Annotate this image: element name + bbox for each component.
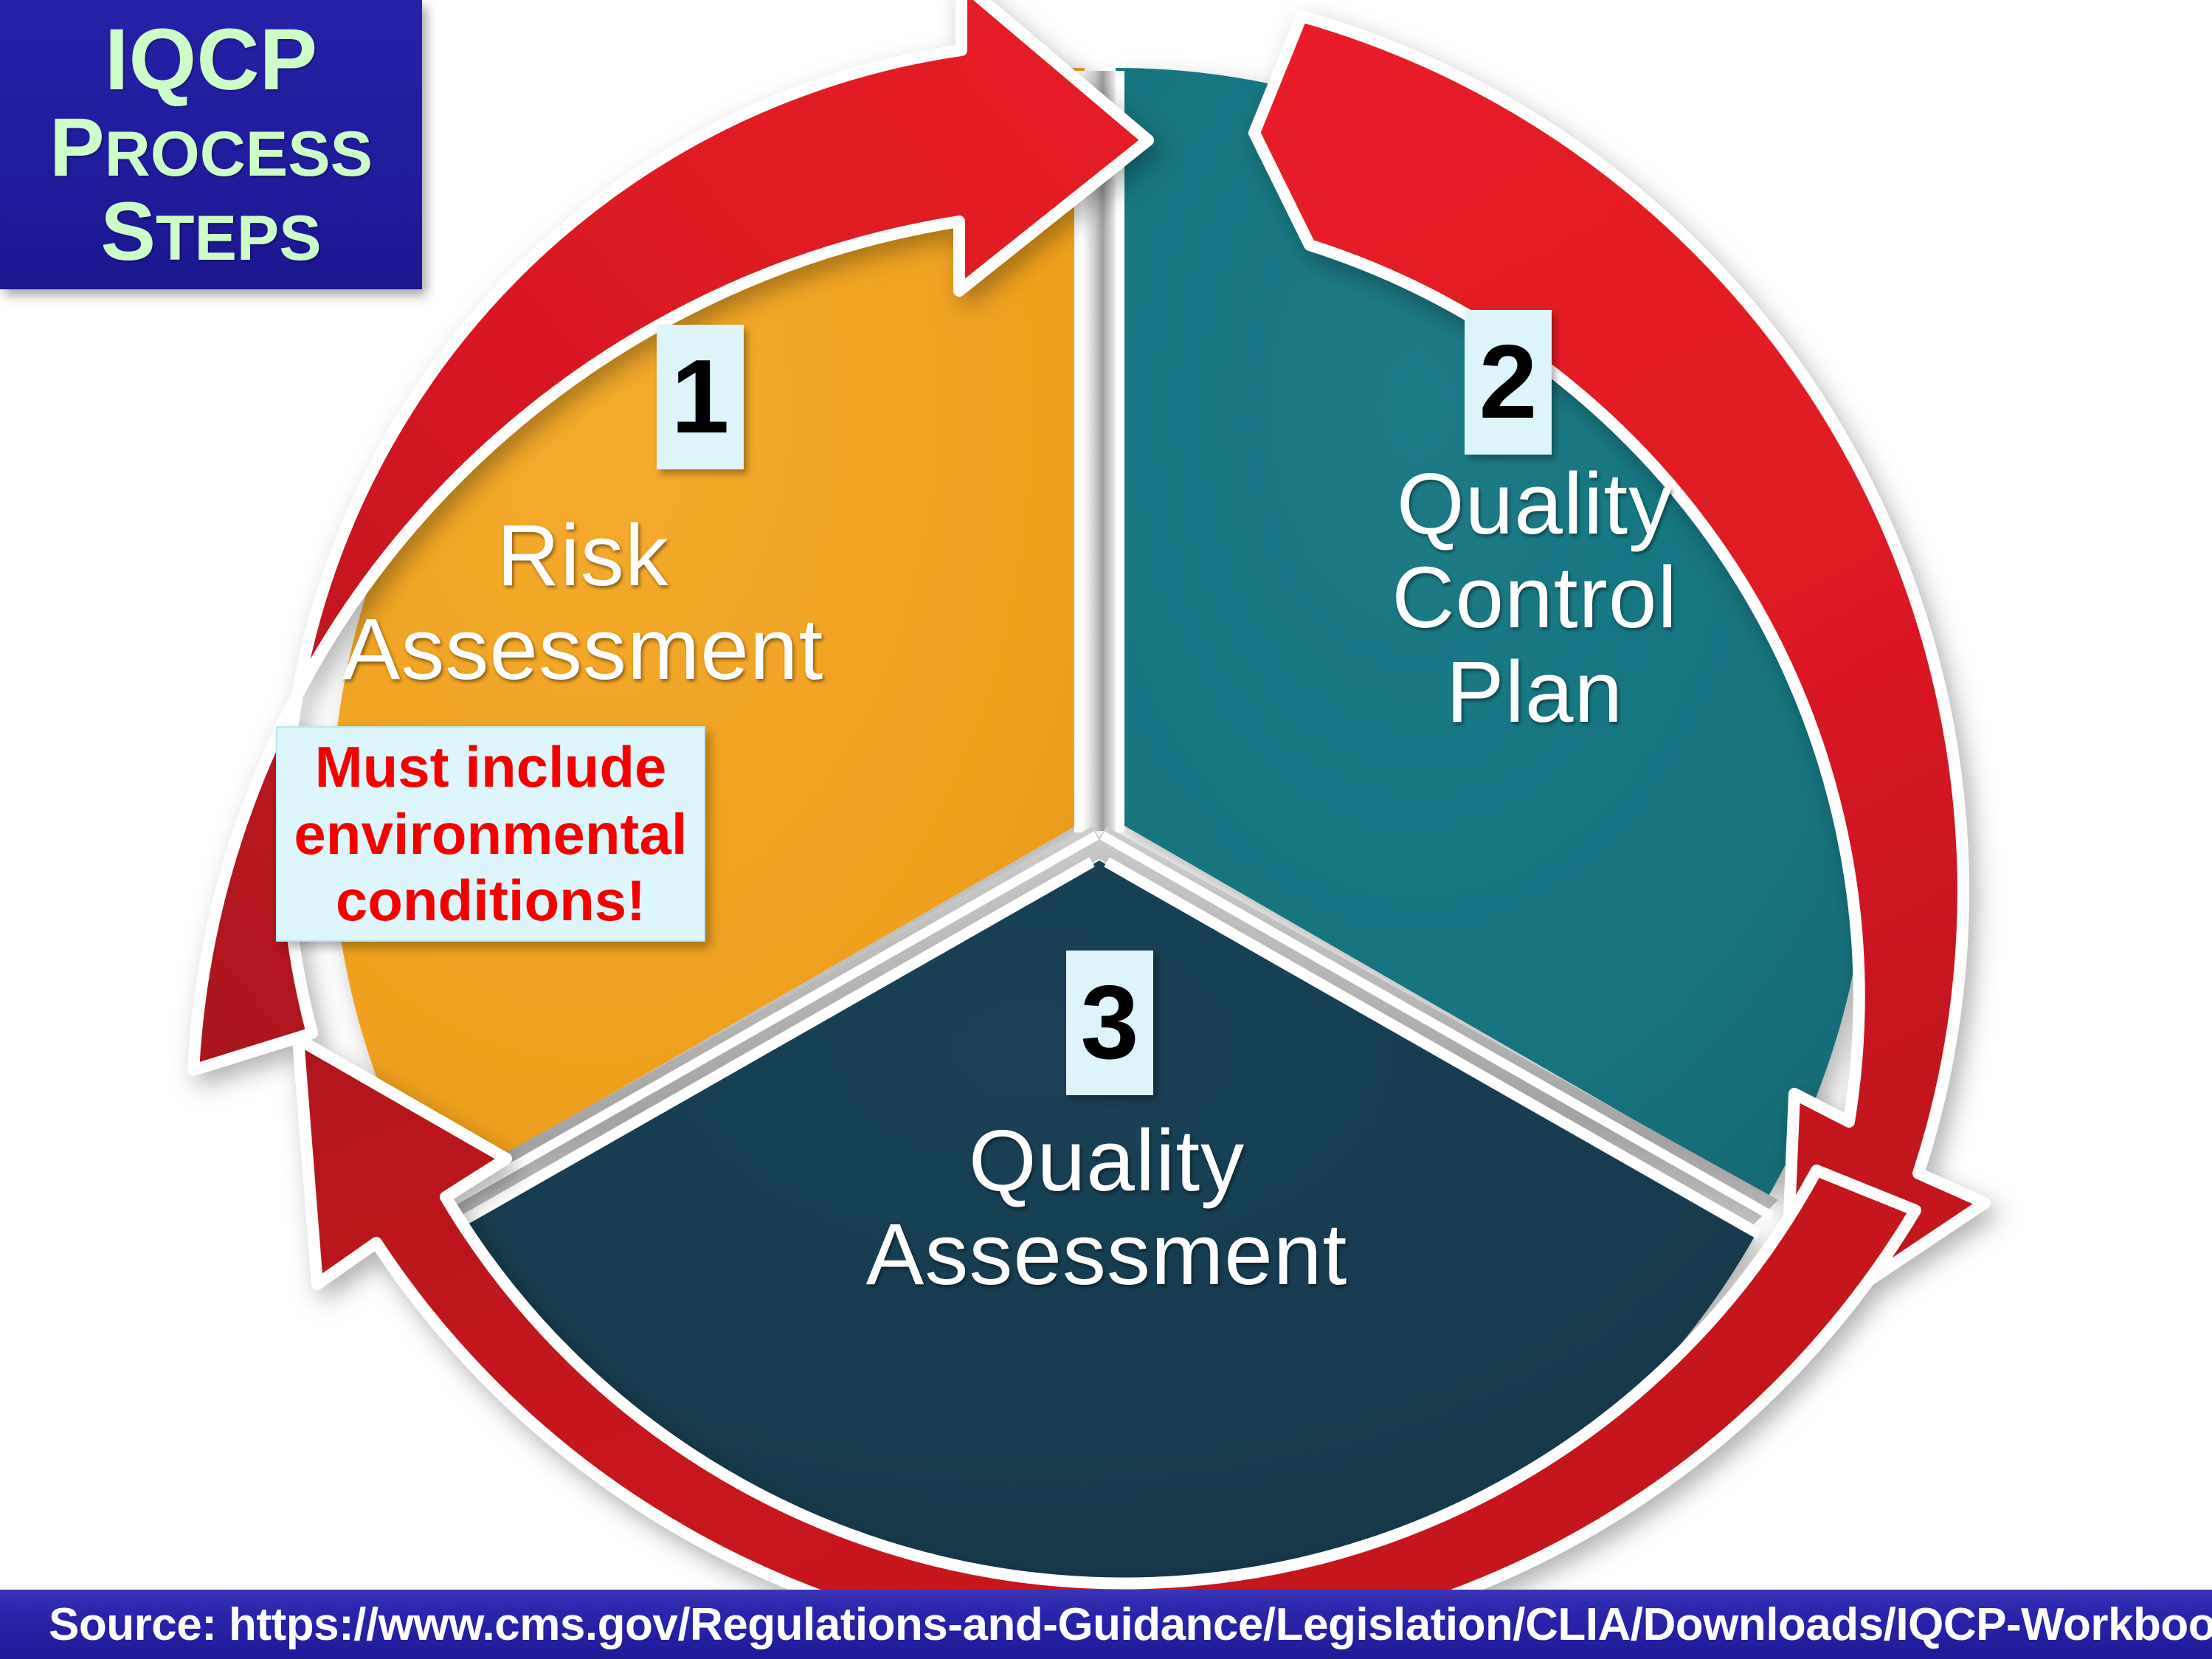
step-number-3: 3 — [1066, 951, 1153, 1095]
title-steps-cap: S — [100, 185, 156, 277]
title-line-iqcp: IQCP — [105, 16, 318, 103]
source-footer-text: Source: https://www.cms.gov/Regulations-… — [0, 1598, 2212, 1651]
slide-canvas: IQCP PROCESS STEPS 1 2 3 Risk Assessment… — [0, 0, 2212, 1659]
callout-line-1: Must include — [315, 734, 667, 800]
source-footer-bar: Source: https://www.cms.gov/Regulations-… — [0, 1590, 2212, 1659]
title-line-steps: STEPS — [100, 190, 321, 273]
callout-line-2: environmental — [294, 801, 687, 867]
title-line-process: PROCESS — [49, 106, 373, 189]
step-number-2: 2 — [1465, 310, 1552, 455]
title-steps-rest: TEPS — [156, 203, 322, 274]
title-process-cap: P — [49, 101, 105, 193]
step-number-1: 1 — [657, 325, 744, 469]
title-badge: IQCP PROCESS STEPS — [0, 0, 422, 289]
callout-line-3: conditions! — [336, 867, 646, 934]
title-process-rest: ROCESS — [105, 119, 373, 190]
callout-environmental-conditions: Must include environmental conditions! — [276, 726, 705, 942]
